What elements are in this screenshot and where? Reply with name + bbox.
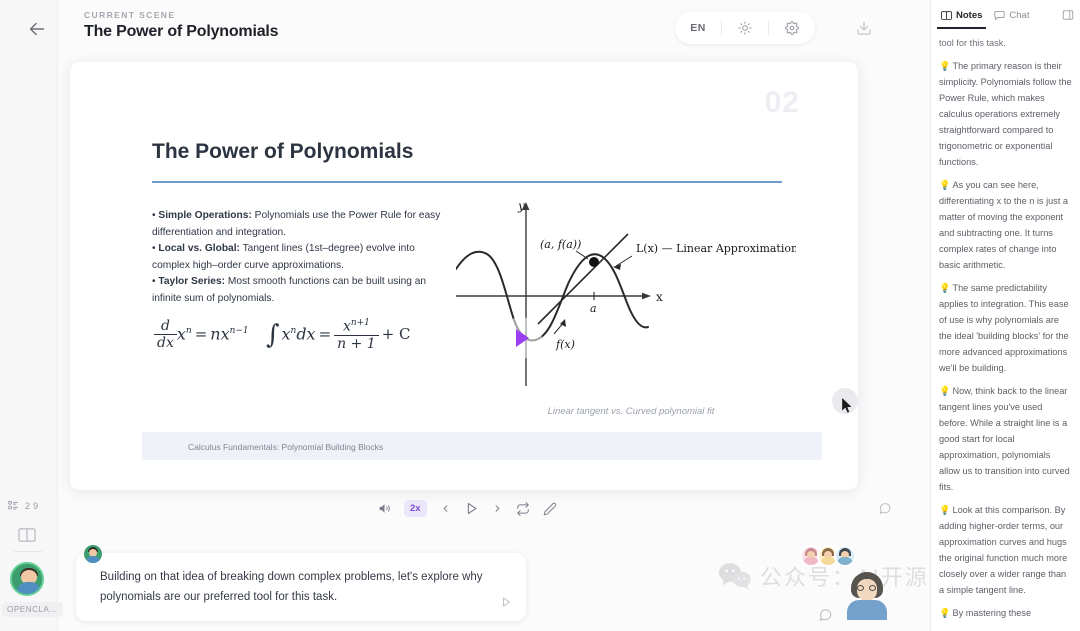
- slide-formula: d dx xn=nxn−1 ∫xndx= xn+1 n + 1 + C: [154, 318, 474, 352]
- note-item: 💡Now, think back to the linear tangent l…: [939, 383, 1072, 495]
- derivative-fraction: d dx: [154, 318, 177, 351]
- volume-icon: [378, 502, 391, 515]
- bulb-icon: 💡: [939, 386, 950, 396]
- integral-fraction: xn+1 n + 1: [334, 318, 379, 352]
- note-item: 💡As you can see here, differentiating x …: [939, 177, 1072, 273]
- line-label: L(x) — Linear Approximation: [636, 242, 796, 255]
- pencil-icon: [543, 502, 557, 516]
- bullet-item: • Taylor Series: Most smooth functions c…: [152, 274, 442, 307]
- rail-divider: [14, 551, 42, 552]
- y-axis-label: y: [517, 199, 525, 213]
- bullet-lead: Simple Operations:: [158, 210, 251, 221]
- rail-user-avatar[interactable]: [10, 562, 44, 596]
- bullet-lead: Taylor Series:: [158, 276, 225, 287]
- tab-chat[interactable]: Chat: [990, 5, 1033, 26]
- header: CURRENT SCENE The Power of Polynomials E…: [58, 0, 930, 60]
- note-item: 💡By mastering these: [939, 605, 1072, 621]
- header-eyebrow: CURRENT SCENE: [84, 10, 175, 20]
- integral-body: x: [281, 324, 290, 343]
- note-text: By mastering these: [952, 608, 1031, 618]
- point-leader: [576, 251, 588, 259]
- list-icon: [8, 500, 19, 511]
- tab-notes[interactable]: Notes: [937, 5, 986, 26]
- integral-sign: ∫: [264, 320, 282, 350]
- note-item: 💡The primary reason is their simplicity.…: [939, 58, 1072, 170]
- bullet-lead: Local vs. Global:: [158, 243, 240, 254]
- bottom-comment-icon[interactable]: [818, 608, 833, 622]
- watermark-person: [845, 572, 889, 620]
- participant-avatars: [805, 545, 856, 567]
- note-text: Now, think back to the linear tangent li…: [939, 386, 1070, 492]
- wechat-icon: [718, 561, 752, 591]
- function-label: f(x): [555, 338, 575, 351]
- slide-canvas: 02 The Power of Polynomials • Simple Ope…: [106, 78, 822, 476]
- a-label: a: [590, 302, 597, 315]
- volume-button[interactable]: [378, 502, 391, 515]
- derivative-body: x: [177, 324, 186, 343]
- right-panel: Notes Chat tool for this task. 💡The prim…: [930, 0, 1080, 631]
- integral-num-exp: n+1: [351, 318, 370, 328]
- slide-number: 02: [765, 86, 800, 120]
- note-text: Look at this comparison. By adding highe…: [939, 505, 1067, 595]
- slide-title-rule: [152, 181, 782, 183]
- derivative-rhs: nx: [210, 324, 229, 343]
- gear-icon: [785, 21, 799, 35]
- bulb-icon: 💡: [939, 283, 950, 293]
- play-icon: [464, 501, 479, 516]
- bullet-item: • Local vs. Global: Tangent lines (1st–d…: [152, 241, 442, 274]
- rail-page-counter[interactable]: 2 9: [8, 500, 38, 511]
- sun-icon: [738, 21, 752, 35]
- app-root: 2 9 OPENCLA… CURRENT SCENE The Power of …: [0, 0, 1080, 631]
- bulb-icon: 💡: [939, 608, 950, 618]
- equals-sign: =: [192, 325, 211, 343]
- mouse-cursor: [842, 398, 853, 414]
- note-text: tool for this task.: [939, 38, 1006, 48]
- note-item: tool for this task.: [939, 35, 1072, 51]
- derivative-rhs-exponent: n−1: [230, 326, 249, 336]
- settings-button[interactable]: [769, 12, 815, 44]
- person-body: [847, 600, 887, 620]
- x-axis-arrow: [642, 293, 651, 300]
- chat-icon: [994, 10, 1005, 21]
- speaker-avatar[interactable]: [84, 545, 102, 563]
- derivative-exponent: n: [186, 326, 192, 336]
- integral-numerator: xn+1: [334, 318, 379, 336]
- x-axis-label: x: [656, 290, 663, 304]
- player-controls: 2x: [378, 500, 557, 517]
- notes-list[interactable]: tool for this task. 💡The primary reason …: [931, 33, 1080, 631]
- note-text: The same predictability applies to integ…: [939, 283, 1069, 373]
- collapse-panel-button[interactable]: [1062, 9, 1074, 21]
- note-text: As you can see here, differentiating x t…: [939, 180, 1068, 270]
- integral-num-base: x: [343, 319, 351, 335]
- back-arrow-icon[interactable]: [26, 18, 48, 40]
- header-toolbar: EN: [675, 12, 815, 44]
- right-panel-tabs: Notes Chat: [931, 0, 1080, 30]
- notes-icon: [941, 10, 952, 21]
- person-face: [857, 579, 877, 601]
- note-item: 💡Look at this comparison. By adding high…: [939, 502, 1072, 598]
- send-icon[interactable]: [500, 596, 512, 608]
- person-glass-left: [857, 585, 864, 591]
- slide-stage[interactable]: 02 The Power of Polynomials • Simple Ope…: [70, 62, 858, 490]
- note-item: 💡The same predictability applies to inte…: [939, 280, 1072, 376]
- page-title: The Power of Polynomials: [84, 23, 278, 41]
- loop-icon: [516, 502, 530, 516]
- collapse-panel-icon: [1062, 9, 1074, 21]
- chat-message-box[interactable]: Building on that idea of breaking down c…: [76, 553, 526, 621]
- rail-page-counter-label: 2 9: [25, 501, 38, 511]
- tab-chat-label: Chat: [1009, 10, 1029, 21]
- integral-plus-c: + C: [379, 325, 414, 343]
- previous-slide-button[interactable]: [440, 503, 451, 514]
- bulb-icon: 💡: [939, 505, 950, 515]
- slide-bullets: • Simple Operations: Polynomials use the…: [152, 208, 442, 307]
- next-slide-button[interactable]: [492, 503, 503, 514]
- person-glass-right: [869, 585, 876, 591]
- bulb-icon: 💡: [939, 180, 950, 190]
- integral-equals: =: [316, 325, 335, 343]
- integral-denominator: n + 1: [334, 336, 379, 352]
- tangent-approximation-graph: (a, f(a)) L(x) — Linear Approximation f(…: [456, 196, 796, 396]
- graph-caption: Linear tangent vs. Curved polynomial fit: [466, 406, 796, 417]
- download-icon[interactable]: [856, 20, 872, 36]
- person-hair: [851, 572, 883, 598]
- slide-title: The Power of Polynomials: [152, 140, 413, 164]
- slide-footer-text: Calculus Fundamentals: Polynomial Buildi…: [188, 442, 383, 452]
- derivative-denominator: dx: [154, 335, 177, 351]
- avatar-body: [837, 557, 853, 565]
- avatar-body: [86, 556, 100, 563]
- play-button[interactable]: [464, 501, 479, 516]
- line-label-leader: [616, 256, 632, 266]
- language-selector[interactable]: EN: [675, 12, 721, 44]
- bulb-icon: 💡: [939, 61, 950, 71]
- edit-button[interactable]: [543, 502, 557, 516]
- participant-avatar[interactable]: [834, 545, 856, 567]
- note-text: The primary reason is their simplicity. …: [939, 61, 1072, 167]
- derivative-numerator: d: [154, 318, 177, 335]
- slide-play-overlay-button[interactable]: [500, 317, 542, 359]
- chevron-right-icon: [492, 503, 503, 514]
- bullet-item: • Simple Operations: Polynomials use the…: [152, 208, 442, 241]
- workspace-badge[interactable]: OPENCLA…: [2, 602, 63, 617]
- loop-button[interactable]: [516, 502, 530, 516]
- comment-icon[interactable]: [878, 502, 892, 515]
- playback-speed-button[interactable]: 2x: [404, 500, 427, 517]
- brightness-button[interactable]: [722, 12, 768, 44]
- tangency-point: [589, 257, 599, 267]
- tab-notes-label: Notes: [956, 10, 982, 21]
- chat-message-text: Building on that idea of breaking down c…: [100, 571, 483, 603]
- integral-dx: dx: [296, 324, 315, 343]
- chevron-left-icon: [440, 503, 451, 514]
- play-icon: [516, 329, 529, 347]
- point-label: (a, f(a)): [540, 238, 581, 251]
- avatar-body: [17, 582, 41, 594]
- book-icon[interactable]: [18, 527, 36, 543]
